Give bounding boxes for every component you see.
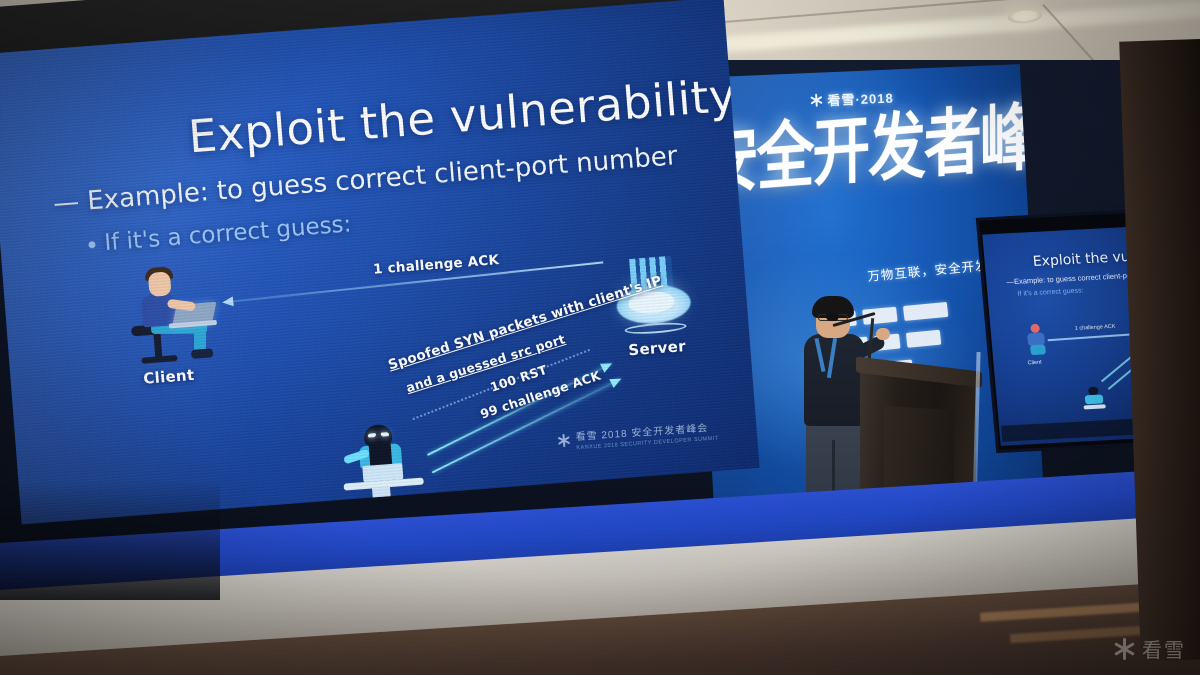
person-with-laptop-icon	[101, 261, 221, 270]
monitor-client-icon	[1024, 323, 1049, 358]
backdrop-calligraphy: 安全开发者峰会	[701, 102, 1020, 199]
sponsor-logo	[903, 302, 948, 321]
hacker-with-laptop-icon	[323, 419, 433, 427]
presentation-slide: Exploit the vulnerability — Example: to …	[0, 0, 760, 524]
snowflake-icon	[1113, 638, 1135, 660]
conference-photo-scene: 看雪·2018 安全开发者峰会 万物互联，安全开发 Exploit	[0, 0, 1200, 675]
snowflake-icon	[809, 93, 823, 107]
backdrop-tagline: 万物互联，安全开发	[866, 255, 989, 285]
slide-subtitle: — Example: to guess correct client-port …	[52, 141, 678, 219]
diagram-node-client: Client	[101, 261, 230, 390]
left-shadow	[0, 480, 220, 600]
snowflake-icon	[556, 433, 570, 447]
photo-watermark: 看雪	[1113, 634, 1186, 663]
monitor-arrow-server-to-client	[1048, 333, 1140, 341]
microphone-icon	[826, 312, 839, 321]
diagram-node-attacker: Attacker	[323, 419, 440, 525]
bullet-icon	[88, 241, 96, 249]
monitor-label-challenge-ack: 1 challenge ACK	[1075, 324, 1116, 332]
slide-bullet-text: If it's a correct guess:	[103, 211, 352, 256]
slide-footer-logo: 看雪 2018 安全开发者峰会 KANXUE 2018 SECURITY DEV…	[556, 418, 719, 453]
backdrop-logo-text: 看雪·2018	[827, 88, 894, 110]
monitor-label-client: Client	[1027, 360, 1042, 367]
projection-screen: Exploit the vulnerability — Example: to …	[0, 0, 751, 546]
sponsor-logo	[906, 330, 941, 348]
diagram-node-server: Server	[595, 247, 713, 365]
monitor-bullet: If it's a correct guess:	[1017, 287, 1083, 297]
cloud-server-icon	[595, 247, 705, 255]
watermark-text: 看雪	[1142, 634, 1186, 663]
backdrop-logo: 看雪·2018	[809, 88, 894, 110]
node-label-client: Client	[108, 363, 229, 390]
node-label-server: Server	[602, 335, 713, 361]
slide-bullet-line: If it's a correct guess:	[87, 211, 352, 257]
monitor-attacker-icon	[1082, 386, 1106, 413]
